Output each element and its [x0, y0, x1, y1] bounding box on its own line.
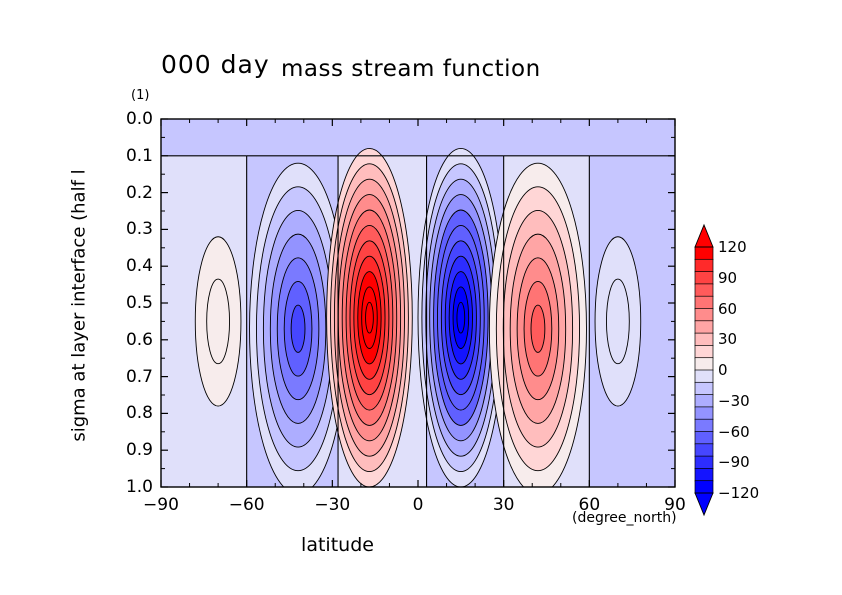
colorbar-swatch [695, 345, 713, 358]
colorbar-swatch [695, 296, 713, 309]
colorbar-extend-max-arrow [695, 225, 713, 247]
colorbar-swatch [695, 419, 713, 432]
y-tick-label: 0.4 [107, 256, 153, 276]
colorbar [695, 225, 713, 515]
colorbar-swatch [695, 432, 713, 445]
contour-ring [366, 302, 374, 333]
y-tick-label: 0.6 [107, 330, 153, 350]
y-tick-label: 1.0 [107, 477, 153, 497]
colorbar-tick-label: 0 [718, 361, 728, 379]
colorbar-tick-label: −60 [718, 423, 750, 441]
contour-cell [195, 237, 241, 406]
contour-ring [606, 279, 629, 364]
x-tick-label: 30 [474, 495, 534, 515]
colorbar-swatch [695, 358, 713, 371]
y-tick-label: 0.9 [107, 440, 153, 460]
colorbar-tick-label: 120 [718, 238, 747, 256]
colorbar-tick-label: −30 [718, 392, 750, 410]
colorbar-tick-label: 30 [718, 330, 737, 348]
x-tick-label: 60 [559, 495, 619, 515]
colorbar-swatch [695, 259, 713, 272]
colorbar-swatch [695, 456, 713, 469]
y-tick-label: 0.5 [107, 293, 153, 313]
colorbar-swatch [695, 272, 713, 285]
colorbar-swatch [695, 333, 713, 346]
contour-ring [291, 305, 305, 352]
y-tick-label: 0.2 [107, 183, 153, 203]
colorbar-tick-label: −90 [718, 453, 750, 471]
colorbar-swatch [695, 481, 713, 494]
colorbar-swatch [695, 382, 713, 395]
colorbar-swatch [695, 247, 713, 260]
y-tick-label: 0.1 [107, 146, 153, 166]
x-tick-label: −90 [131, 495, 191, 515]
y-tick-label: 0.7 [107, 367, 153, 387]
colorbar-swatch [695, 395, 713, 408]
contour-cell [595, 237, 641, 406]
y-tick-label: 0.3 [107, 219, 153, 239]
colorbar-swatch [695, 284, 713, 297]
x-tick-label: 90 [645, 495, 705, 515]
colorbar-swatch [695, 370, 713, 383]
colorbar-tick-label: 60 [718, 300, 737, 318]
x-tick-label: −60 [217, 495, 277, 515]
colorbar-swatch [695, 468, 713, 481]
contour-ring [531, 305, 545, 352]
y-tick-label: 0.0 [107, 109, 153, 129]
figure-canvas: 000 day mass stream function (1) sigma a… [0, 0, 842, 595]
colorbar-swatch [695, 407, 713, 420]
colorbar-swatch [695, 321, 713, 334]
contour-ring [457, 302, 465, 333]
colorbar-tick-label: 90 [718, 269, 737, 287]
colorbar-tick-label: −120 [718, 484, 759, 502]
contour-ring [207, 279, 230, 364]
y-tick-label: 0.8 [107, 403, 153, 423]
contour-cell [327, 148, 413, 487]
x-tick-label: 0 [388, 495, 448, 515]
colorbar-swatch [695, 309, 713, 322]
colorbar-swatch [695, 444, 713, 457]
x-tick-label: −30 [302, 495, 362, 515]
